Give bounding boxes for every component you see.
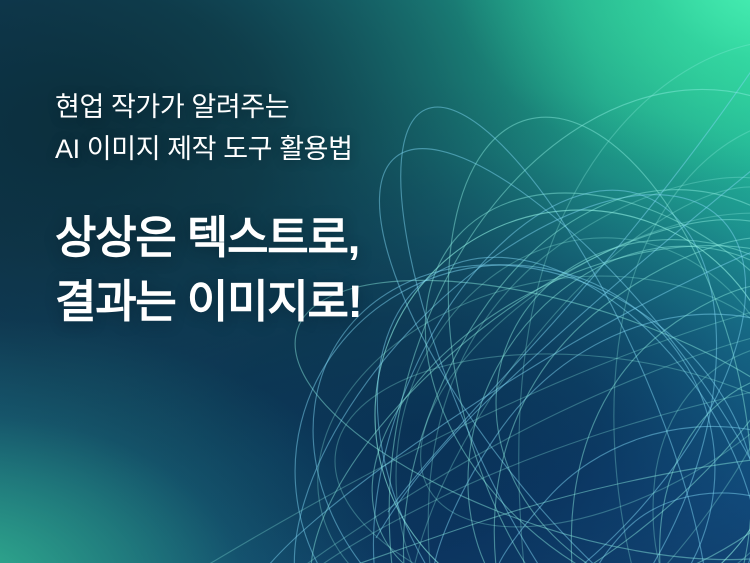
eyebrow-line-1: 현업 작가가 알려주는 xyxy=(55,86,525,128)
eyebrow-line-2: AI 이미지 제작 도구 활용법 xyxy=(55,128,525,170)
headline-line-2: 결과는 이미지로! xyxy=(55,270,525,334)
banner-text-block: 현업 작가가 알려주는 AI 이미지 제작 도구 활용법 상상은 텍스트로, 결… xyxy=(55,86,525,334)
headline-line-1: 상상은 텍스트로, xyxy=(55,206,525,270)
banner-eyebrow: 현업 작가가 알려주는 AI 이미지 제작 도구 활용법 xyxy=(55,86,525,170)
promo-banner: 현업 작가가 알려주는 AI 이미지 제작 도구 활용법 상상은 텍스트로, 결… xyxy=(0,0,750,563)
banner-headline: 상상은 텍스트로, 결과는 이미지로! xyxy=(55,206,525,334)
